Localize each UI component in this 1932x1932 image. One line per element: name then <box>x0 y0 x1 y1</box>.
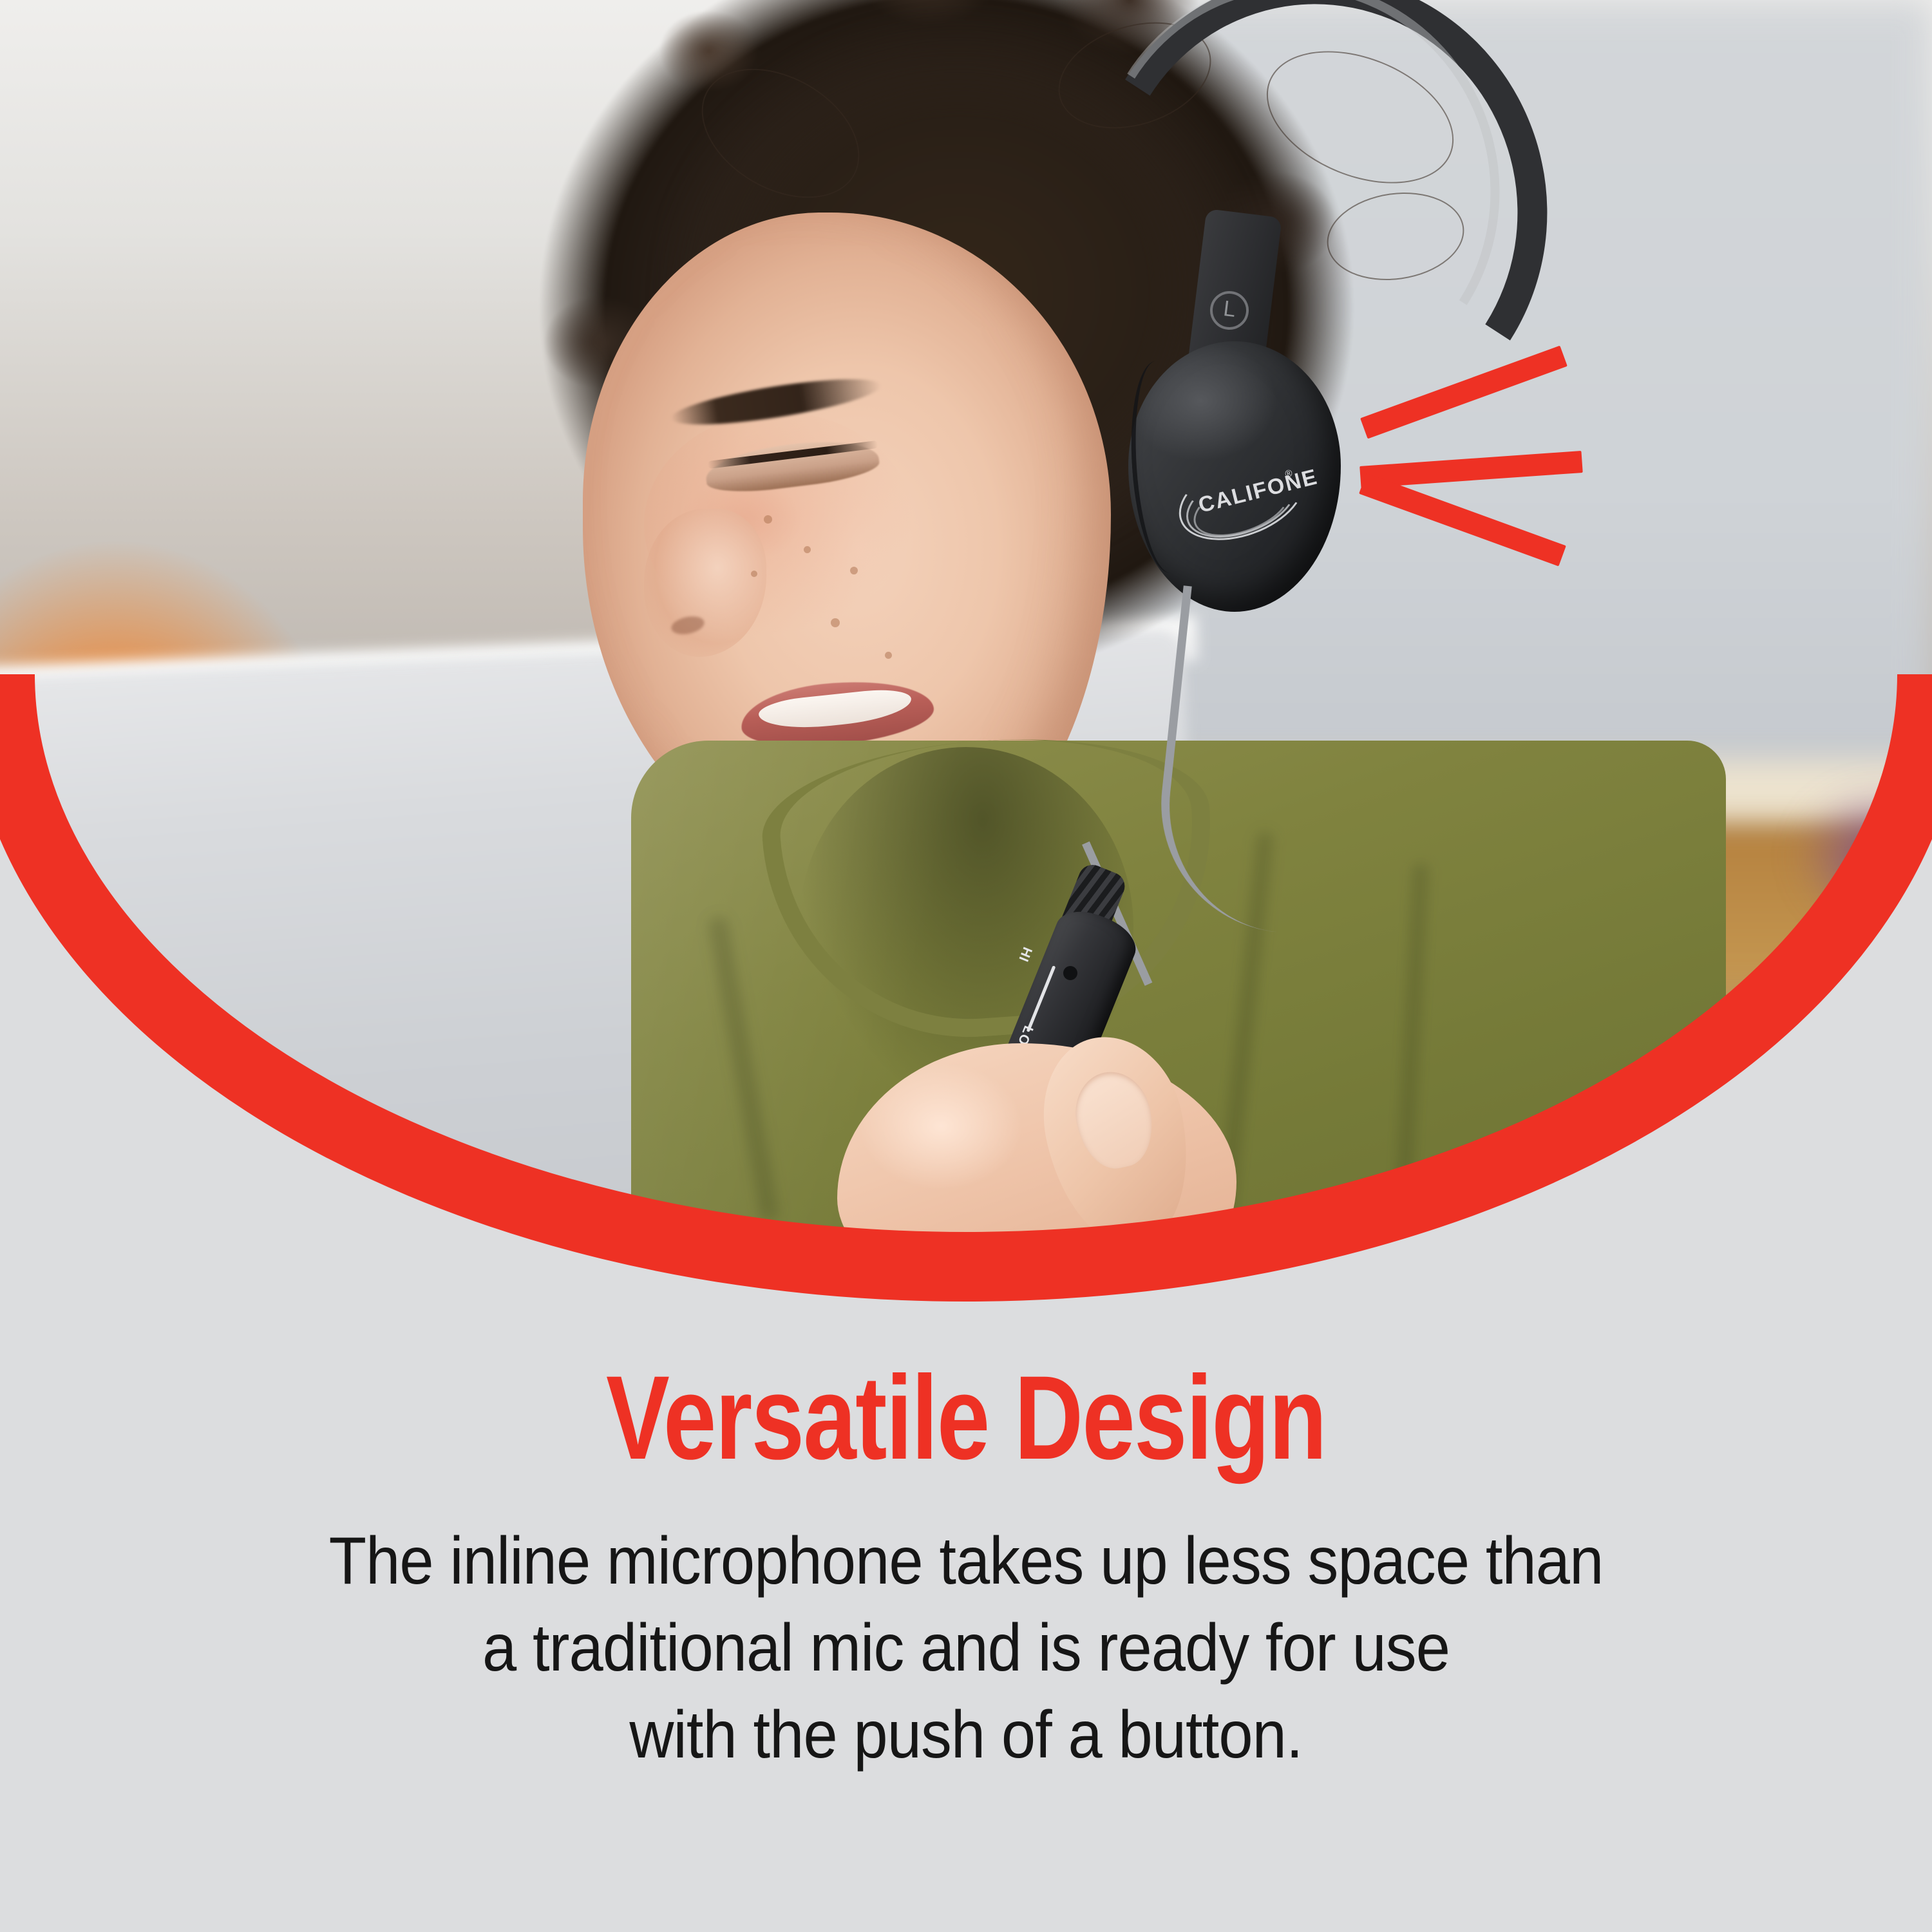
body-copy-line: a traditional mic and is ready for use <box>255 1605 1677 1692</box>
page-title: Versatile Design <box>193 1359 1739 1478</box>
freckle <box>764 515 772 524</box>
product-photo: L CALIFONE ® HI LO ON OFF <box>0 0 1932 1288</box>
freckle <box>831 618 840 627</box>
body-copy-line: with the push of a button. <box>255 1692 1677 1779</box>
freckle <box>804 546 811 553</box>
microphone-port <box>1063 966 1077 980</box>
photo-arc-mask: L CALIFONE ® HI LO ON OFF <box>0 0 1932 1288</box>
freckle <box>885 652 892 659</box>
marketing-card: L CALIFONE ® HI LO ON OFF <box>0 0 1932 1932</box>
freckle <box>850 567 858 574</box>
blurred-purple-object <box>1797 786 1932 927</box>
body-copy: The inline microphone takes up less spac… <box>255 1518 1677 1779</box>
freckle <box>751 571 757 577</box>
text-block: Versatile Design The inline microphone t… <box>0 1359 1932 1779</box>
body-copy-line: The inline microphone takes up less spac… <box>255 1518 1677 1605</box>
